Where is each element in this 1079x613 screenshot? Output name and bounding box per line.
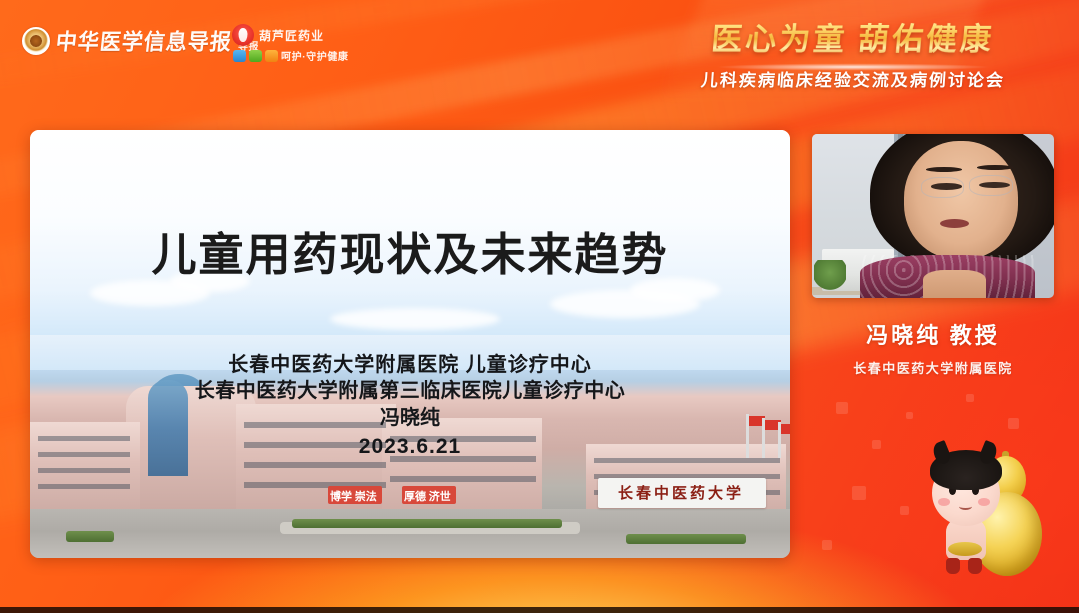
speaker-face	[904, 141, 1018, 259]
speaker-eyebrow	[977, 165, 1013, 170]
speaker-video-panel[interactable]	[812, 134, 1054, 298]
square-particle	[872, 440, 881, 449]
square-particle	[852, 486, 866, 500]
brand-chip-icon	[249, 50, 262, 62]
brand-chip-icon	[265, 50, 278, 62]
cma-seal-icon	[22, 27, 50, 55]
building-window	[38, 484, 130, 489]
building-window	[390, 476, 536, 482]
speaker-eye	[931, 183, 962, 190]
square-particle	[966, 394, 974, 402]
campus-sign-text: 长春中医药大学	[618, 482, 744, 503]
square-particle	[900, 506, 909, 515]
broadcast-stage: 中华医学信息导报 导报 葫芦匠药业 呵护·守护健康 医心为童 葫佑健康 儿科疾病…	[0, 0, 1079, 613]
campus-greenery	[626, 534, 746, 544]
square-particle	[836, 402, 848, 414]
building-window	[38, 468, 130, 473]
mascot-cheek	[938, 498, 950, 506]
brand-chip-icon	[233, 50, 246, 62]
square-particle	[1008, 418, 1019, 429]
gate-sign-right-text: 厚德 济世	[404, 488, 451, 504]
logo-cma-name: 中华医学信息导报	[54, 25, 233, 57]
square-particle	[822, 540, 832, 550]
slide-credit-line: 冯晓纯	[30, 405, 790, 432]
campus-greenery	[292, 519, 562, 528]
square-particle	[906, 412, 913, 419]
speaker-organization: 长春中医药大学附属医院	[812, 358, 1054, 377]
logo-cma: 中华医学信息导报 导报	[22, 26, 259, 56]
logo-secondary-name: 葫芦匠药业	[259, 27, 324, 44]
logo-secondary: 葫芦匠药业 呵护·守护健康	[232, 24, 349, 63]
mascot-gourd-boy-icon	[924, 446, 1050, 584]
cloud-decoration	[330, 308, 500, 330]
video-background-plant	[814, 260, 845, 291]
bottom-letterbox-bar	[0, 607, 1079, 613]
event-banner: 医心为童 葫佑健康 儿科疾病临床经验交流及病例讨论会	[643, 14, 1063, 91]
presentation-slide[interactable]: 儿童用药现状及未来趋势	[30, 130, 790, 558]
campus-greenery	[66, 531, 114, 542]
slide-credit-line: 长春中医药大学附属第三临床医院儿童诊疗中心	[30, 378, 790, 404]
speaker-eyebrow	[926, 167, 962, 172]
event-title: 医心为童 葫佑健康	[641, 14, 1065, 59]
mascot-mouth	[959, 503, 972, 510]
speaker-caption: 冯晓纯 教授 长春中医药大学附属医院	[812, 318, 1054, 377]
slide-credit-line: 长春中医药大学附属医院 儿童诊疗中心	[30, 352, 790, 378]
mascot-boot	[968, 558, 982, 574]
speaker-eye	[979, 182, 1010, 189]
speaker-name: 冯晓纯 教授	[812, 318, 1054, 350]
mascot-boot	[946, 558, 960, 574]
speaker-neck	[923, 270, 986, 298]
header-bar: 中华医学信息导报 导报 葫芦匠药业 呵护·守护健康 医心为童 葫佑健康 儿科疾病…	[0, 0, 1079, 108]
slide-credits: 长春中医药大学附属医院 儿童诊疗中心 长春中医药大学附属第三临床医院儿童诊疗中心…	[30, 352, 790, 461]
mascot-cheek	[978, 498, 990, 506]
mascot-leaf-skirt	[948, 542, 982, 556]
event-subtitle: 儿科疾病临床经验交流及病例讨论会	[642, 66, 1064, 91]
slide-credit-date: 2023.6.21	[30, 432, 790, 461]
gourd-brand-icon	[232, 24, 254, 46]
building-window	[244, 462, 386, 468]
slide-title: 儿童用药现状及未来趋势	[30, 218, 790, 283]
logo-secondary-tagline: 呵护·守护健康	[281, 48, 349, 63]
gate-sign-left-text: 博学 崇法	[330, 488, 377, 504]
